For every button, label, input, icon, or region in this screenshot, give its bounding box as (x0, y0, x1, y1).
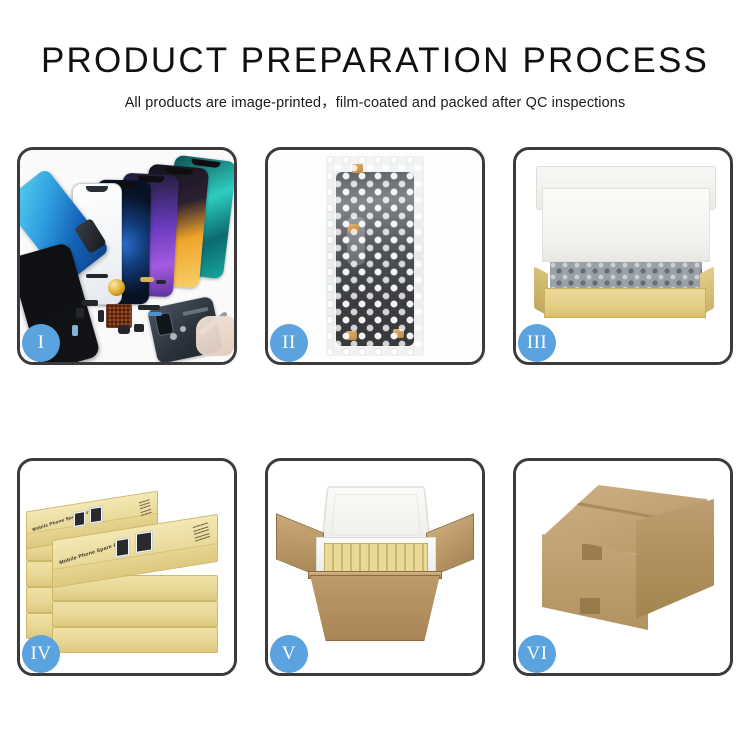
part-small-flex (156, 280, 166, 284)
part-connector (86, 274, 108, 278)
header: PRODUCT PREPARATION PROCESS All products… (0, 0, 750, 112)
part-screwplate (76, 308, 84, 318)
foam-sheet (542, 188, 710, 262)
carton-body (310, 575, 440, 641)
step-badge-4: IV (22, 635, 60, 673)
step-badge-3: III (518, 324, 556, 362)
process-step-2: II (265, 147, 485, 365)
speaker-component (108, 279, 125, 296)
packed-yellow-boxes (324, 543, 428, 573)
box-thumb (73, 510, 86, 528)
carton-flap-tab (580, 598, 600, 614)
box-thumb (135, 530, 153, 554)
step-badge-2: II (270, 324, 308, 362)
box-spec-lines: ▬▬▬▬▬▬▬▬▬▬▬▬▬▬▬▬▬▬▬▬ (193, 521, 211, 543)
process-step-5: V (265, 458, 485, 676)
sealed-carton (536, 485, 714, 649)
part-blue-flex (148, 312, 162, 316)
part-button (134, 324, 144, 332)
bubble-texture (326, 156, 424, 356)
step-badge-5: V (270, 635, 308, 673)
box-stack: Mobile Phone Spare Parts ▬▬▬▬▬▬▬▬▬▬▬▬▬▬▬… (26, 479, 234, 661)
stacked-box (52, 627, 218, 653)
part-ribbon (138, 305, 160, 310)
part-screw (180, 326, 186, 332)
process-step-3: III (513, 147, 733, 365)
process-step-1: I (17, 147, 237, 365)
part-spacer (98, 310, 104, 322)
step-badge-6: VI (518, 635, 556, 673)
process-steps-grid: I II (17, 147, 733, 687)
process-step-4: Mobile Phone Spare Parts ▬▬▬▬▬▬▬▬▬▬▬▬▬▬▬… (17, 458, 237, 676)
box-spec-lines: ▬▬▬▬▬▬▬▬▬▬▬▬▬▬▬ (139, 498, 152, 517)
part-camera-module (118, 325, 130, 334)
stacked-box (52, 601, 218, 627)
step-badge-1: I (22, 324, 60, 362)
part-battery-cell (72, 325, 78, 336)
hand (196, 316, 234, 356)
box-front-panel (544, 288, 706, 318)
page-subtitle: All products are image-printed，film-coat… (0, 91, 750, 112)
housing-band (182, 307, 208, 316)
notch-icon (86, 186, 108, 192)
product-preparation-infographic: PRODUCT PREPARATION PROCESS All products… (0, 0, 750, 750)
part-screw (170, 333, 177, 340)
box-thumb (115, 537, 130, 558)
carton-flap-tab (582, 544, 602, 560)
page-title: PRODUCT PREPARATION PROCESS (0, 42, 750, 80)
bubble-wrap-bag (326, 156, 424, 356)
part-bracket (82, 300, 98, 306)
part-gold-clip (140, 277, 154, 282)
process-step-6: VI (513, 458, 733, 676)
box-thumb (89, 505, 103, 524)
